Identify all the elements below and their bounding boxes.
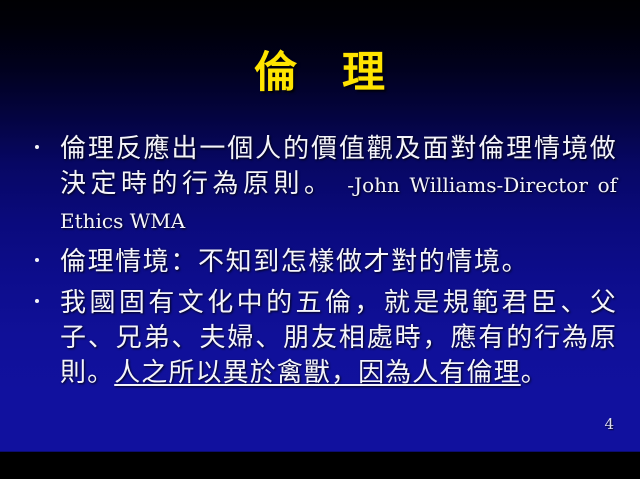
bullet-text: 倫理反應出一個人的價值觀及面對倫理情境做決定時的行為原則。 -John Will…	[60, 132, 617, 239]
bullet-text: 倫理情境：不知到怎樣做才對的情境。	[60, 245, 617, 280]
bullet-dot-icon	[35, 145, 39, 149]
page-number: 4	[604, 415, 614, 433]
list-item: 倫理反應出一個人的價值觀及面對倫理情境做決定時的行為原則。 -John Will…	[27, 132, 617, 239]
bullet-text: 我國固有文化中的五倫，就是規範君臣、父子、兄弟、夫婦、朋友相處時，應有的行為原則…	[60, 286, 617, 391]
slide-canvas: 倫 理 倫理反應出一個人的價值觀及面對倫理情境做決定時的行為原則。 -John …	[0, 0, 640, 479]
slide-content: 倫 理 倫理反應出一個人的價值觀及面對倫理情境做決定時的行為原則。 -John …	[0, 0, 640, 479]
bullet-text-emphasis: 人之所以異於禽獸，因為人有倫理	[114, 358, 521, 388]
bullet-dot-icon	[35, 299, 39, 303]
bullet-list: 倫理反應出一個人的價值觀及面對倫理情境做決定時的行為原則。 -John Will…	[27, 132, 617, 397]
list-item: 我國固有文化中的五倫，就是規範君臣、父子、兄弟、夫婦、朋友相處時，應有的行為原則…	[27, 286, 617, 391]
bullet-text-tail: 。	[521, 358, 548, 388]
list-item: 倫理情境：不知到怎樣做才對的情境。	[27, 245, 617, 280]
bullet-dot-icon	[35, 258, 39, 262]
slide-title: 倫 理	[0, 48, 640, 98]
